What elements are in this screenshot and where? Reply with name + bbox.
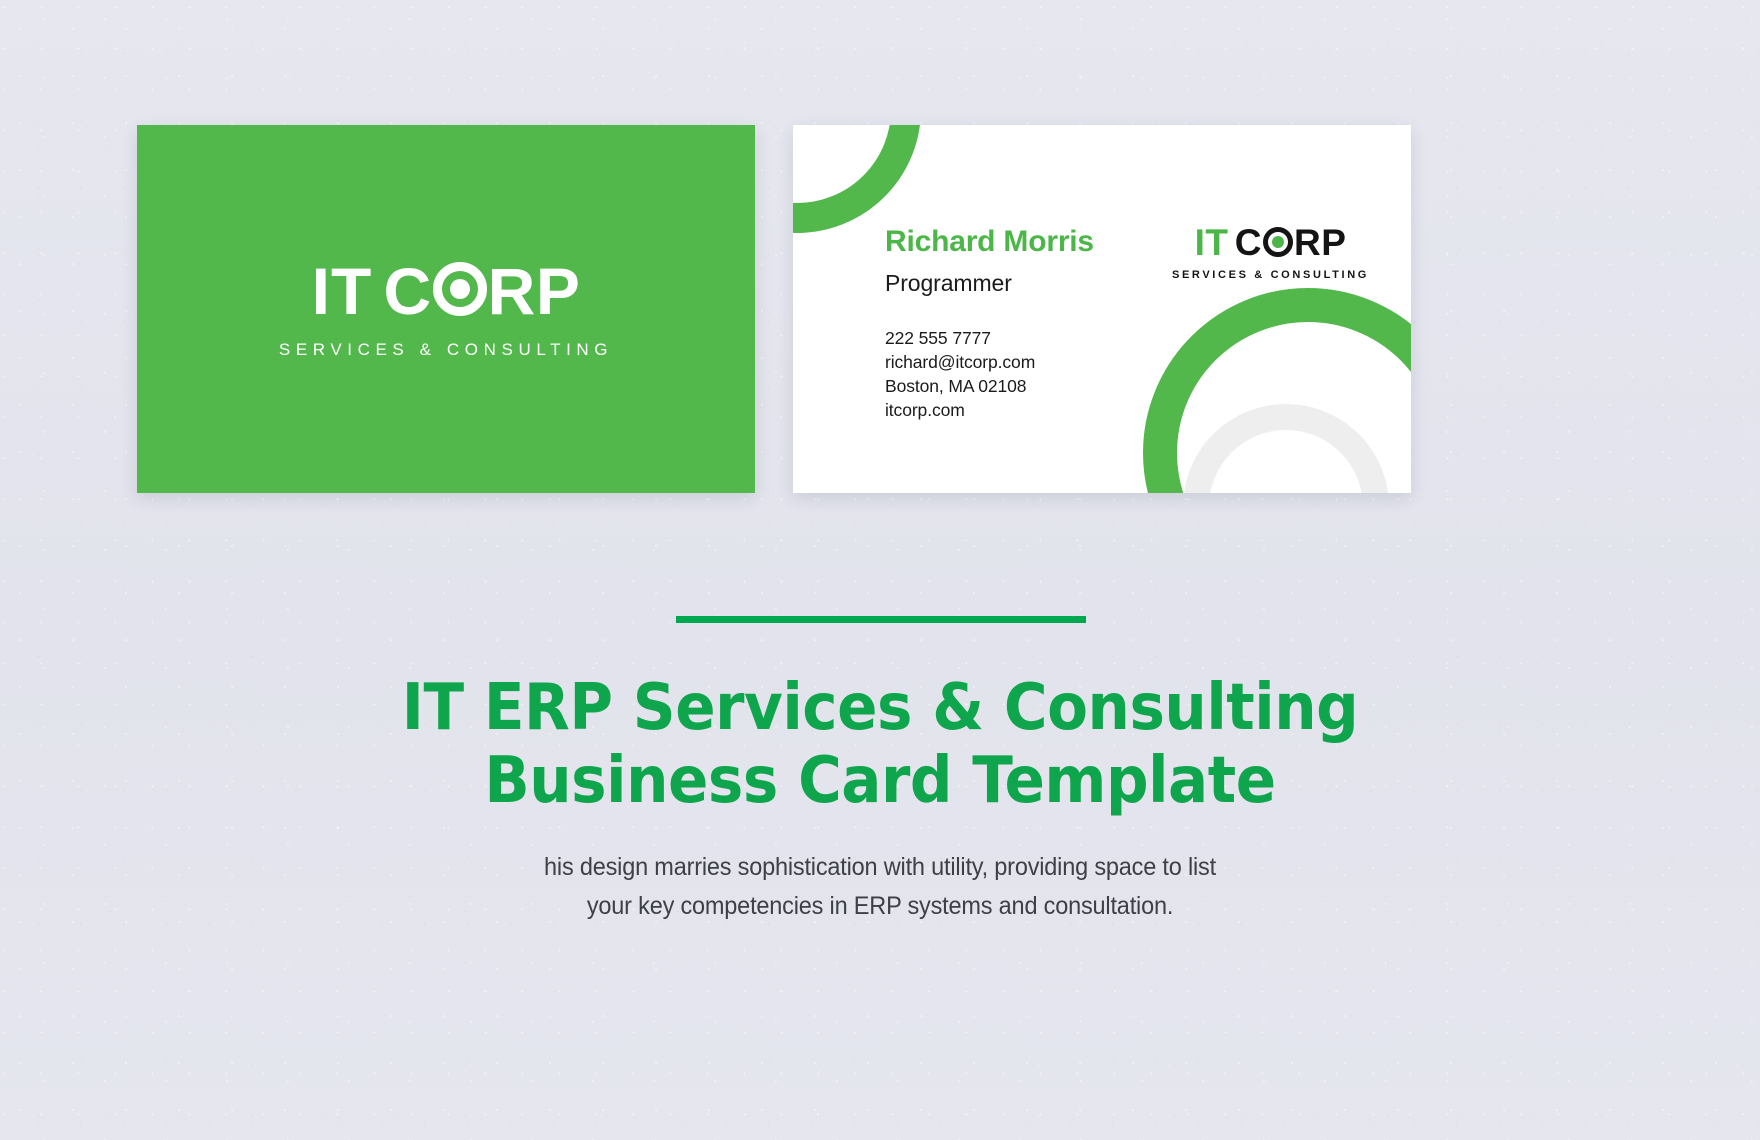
page-title: IT ERP Services & Consulting Business Ca… <box>62 672 1699 818</box>
contact-name: Richard Morris <box>885 225 1094 258</box>
contact-info-list: 222 555 7777 richard@itcorp.com Boston, … <box>885 326 1094 423</box>
decorative-arc-bottom-right-green <box>1143 288 1411 493</box>
logo-text-rp: RP <box>488 258 581 324</box>
contact-address: Boston, MA 02108 <box>885 374 1094 398</box>
contact-phone: 222 555 7777 <box>885 326 1094 350</box>
business-card-preview-row: ITCRP SERVICES & CONSULTING Richard Morr… <box>0 125 1760 493</box>
business-card-front[interactable]: ITCRP SERVICES & CONSULTING <box>137 125 755 493</box>
contact-website: itcorp.com <box>885 398 1094 422</box>
page-description-line-1: his design marries sophistication with u… <box>53 848 1707 887</box>
logo-target-o-icon <box>433 262 487 316</box>
back-card-logo: ITCRP SERVICES & CONSULTING <box>1172 224 1369 281</box>
logo-text-c: C <box>1235 224 1262 261</box>
logo-target-o-icon <box>1263 227 1293 257</box>
contact-details: Richard Morris Programmer 222 555 7777 r… <box>885 225 1094 423</box>
decorative-arc-top-left <box>793 125 921 233</box>
logo-wordmark: ITCRP <box>1172 224 1369 261</box>
front-card-logo: ITCRP SERVICES & CONSULTING <box>279 258 613 360</box>
logo-text-rp: RP <box>1294 224 1346 261</box>
page-description: his design marries sophistication with u… <box>53 848 1707 926</box>
page-title-line-2: Business Card Template <box>62 745 1699 818</box>
logo-text-it: IT <box>1195 224 1229 261</box>
contact-role: Programmer <box>885 270 1094 297</box>
decorative-arc-bottom-right-gray <box>1183 404 1389 493</box>
logo-wordmark: ITCRP <box>279 258 613 324</box>
business-card-back[interactable]: Richard Morris Programmer 222 555 7777 r… <box>793 125 1411 493</box>
logo-tagline: SERVICES & CONSULTING <box>1172 269 1369 281</box>
section-divider <box>676 616 1086 623</box>
template-caption: IT ERP Services & Consulting Business Ca… <box>0 672 1760 925</box>
logo-tagline: SERVICES & CONSULTING <box>279 340 613 360</box>
logo-text-c: C <box>384 258 432 324</box>
contact-email: richard@itcorp.com <box>885 350 1094 374</box>
page-description-line-2: your key competencies in ERP systems and… <box>53 887 1707 926</box>
logo-text-it: IT <box>312 258 373 324</box>
page-title-line-1: IT ERP Services & Consulting <box>62 672 1699 745</box>
